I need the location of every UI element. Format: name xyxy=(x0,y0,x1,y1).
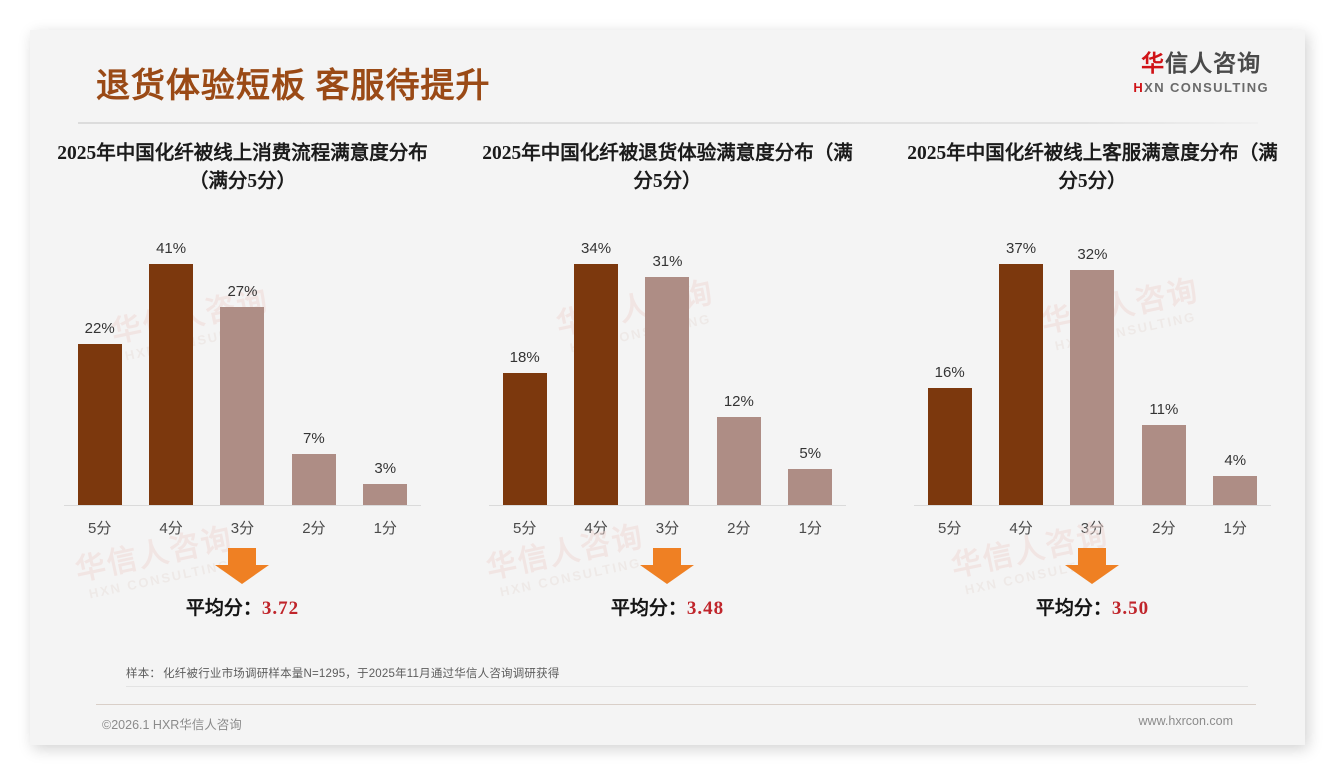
bar-group-3: 16% 37% 32% 11% xyxy=(914,240,1271,506)
chart-title-1: 2025年中国化纤被线上消费流程满意度分布（满分5分） xyxy=(42,140,443,202)
bar-rect xyxy=(645,277,689,506)
bar-rect xyxy=(220,307,264,506)
brand-logo: 华信人咨询 HXN CONSULTING xyxy=(1133,52,1269,94)
x-tick-label: 5分 xyxy=(489,517,560,538)
logo-english-accent: H xyxy=(1133,80,1144,95)
bar-rect xyxy=(1213,476,1257,506)
x-tick-label: 1分 xyxy=(350,517,421,538)
bar-value-label: 4% xyxy=(1224,452,1246,469)
chart-panel-1: 2025年中国化纤被线上消费流程满意度分布（满分5分） 华信人咨询 HXN CO… xyxy=(30,140,455,638)
slide-card: 退货体验短板 客服待提升 华信人咨询 HXN CONSULTING 2025年中… xyxy=(30,30,1305,745)
bar-rect xyxy=(363,484,407,506)
page-title: 退货体验短板 客服待提升 xyxy=(96,58,491,107)
bar-item: 7% xyxy=(278,240,349,506)
average-block-1: 华信人咨询 HXN CONSULTING 平均分：3.72 xyxy=(42,548,443,638)
x-tick-label: 4分 xyxy=(560,517,631,538)
bar-rect xyxy=(999,264,1043,506)
average-score-2: 平均分：3.48 xyxy=(467,593,868,620)
x-tick-label: 4分 xyxy=(985,517,1056,538)
bar-rect xyxy=(574,264,618,506)
bar-item: 11% xyxy=(1128,240,1199,506)
average-block-2: 华信人咨询 HXN CONSULTING 平均分：3.48 xyxy=(467,548,868,638)
bar-item: 34% xyxy=(560,240,631,506)
down-arrow-icon xyxy=(215,548,269,584)
bar-rect xyxy=(78,344,122,506)
chart-plot-2: 华信人咨询 HXN CONSULTING 18% 34% 31% xyxy=(467,240,868,540)
bar-item: 27% xyxy=(207,240,278,506)
bar-item: 31% xyxy=(632,240,703,506)
copyright-text: ©2026.1 HXR华信人咨询 xyxy=(102,714,242,733)
x-axis-line xyxy=(914,505,1271,506)
bar-item: 41% xyxy=(135,240,206,506)
logo-chinese-accent: 华 xyxy=(1141,51,1165,76)
x-tick-label: 4分 xyxy=(135,517,206,538)
chart-plot-3: 华信人咨询 HXN CONSULTING 16% 37% 32% xyxy=(892,240,1293,540)
bar-rect xyxy=(928,388,972,506)
bar-item: 18% xyxy=(489,240,560,506)
average-score-3: 平均分：3.50 xyxy=(892,593,1293,620)
logo-english-rest: XN CONSULTING xyxy=(1144,80,1269,95)
chart-panel-3: 2025年中国化纤被线上客服满意度分布（满分5分） 华信人咨询 HXN CONS… xyxy=(880,140,1305,638)
bar-value-label: 3% xyxy=(374,460,396,477)
x-tick-label: 5分 xyxy=(914,517,985,538)
down-arrow-icon xyxy=(1065,548,1119,584)
bar-value-label: 32% xyxy=(1077,246,1107,263)
x-axis-line xyxy=(64,505,421,506)
bar-rect xyxy=(1070,270,1114,506)
bar-item: 5% xyxy=(775,240,846,506)
website-link[interactable]: www.hxrcon.com xyxy=(1139,714,1233,733)
bar-value-label: 11% xyxy=(1149,401,1178,418)
average-value: 3.72 xyxy=(262,598,299,619)
x-axis-labels-2: 5分 4分 3分 2分 1分 xyxy=(489,517,846,538)
footnote-divider xyxy=(126,686,1248,687)
header-divider xyxy=(78,122,1258,124)
bar-item: 22% xyxy=(64,240,135,506)
chart-panel-2: 2025年中国化纤被退货体验满意度分布（满分5分） 华信人咨询 HXN CONS… xyxy=(455,140,880,638)
bar-value-label: 41% xyxy=(156,240,186,257)
bar-item: 4% xyxy=(1200,240,1271,506)
average-label: 平均分： xyxy=(186,598,262,619)
bar-rect xyxy=(1142,425,1186,506)
charts-row: 2025年中国化纤被线上消费流程满意度分布（满分5分） 华信人咨询 HXN CO… xyxy=(30,140,1305,638)
x-tick-label: 1分 xyxy=(1200,517,1271,538)
bar-value-label: 16% xyxy=(935,364,965,381)
source-footnote: 样本：化纤被行业市场调研样本量N=1295，于2025年11月通过华信人咨询调研… xyxy=(126,665,560,681)
bar-item: 12% xyxy=(703,240,774,506)
bar-group-2: 18% 34% 31% 12% xyxy=(489,240,846,506)
bar-value-label: 31% xyxy=(652,253,682,270)
x-tick-label: 2分 xyxy=(278,517,349,538)
bar-rect xyxy=(503,373,547,506)
bar-item: 3% xyxy=(350,240,421,506)
chart-title-3: 2025年中国化纤被线上客服满意度分布（满分5分） xyxy=(892,140,1293,202)
x-tick-label: 1分 xyxy=(775,517,846,538)
bar-value-label: 22% xyxy=(85,320,115,337)
x-tick-label: 2分 xyxy=(703,517,774,538)
average-value: 3.48 xyxy=(687,598,724,619)
bar-value-label: 18% xyxy=(510,349,540,366)
x-tick-label: 3分 xyxy=(632,517,703,538)
footnote-text: 化纤被行业市场调研样本量N=1295，于2025年11月通过华信人咨询调研获得 xyxy=(163,668,559,680)
x-axis-labels-3: 5分 4分 3分 2分 1分 xyxy=(914,517,1271,538)
bar-rect xyxy=(788,469,832,506)
chart-title-2: 2025年中国化纤被退货体验满意度分布（满分5分） xyxy=(467,140,868,202)
x-axis-labels-1: 5分 4分 3分 2分 1分 xyxy=(64,517,421,538)
x-tick-label: 5分 xyxy=(64,517,135,538)
bar-group-1: 22% 41% 27% 7% xyxy=(64,240,421,506)
bar-value-label: 37% xyxy=(1006,240,1036,257)
bar-value-label: 5% xyxy=(799,445,821,462)
chart-plot-1: 华信人咨询 HXN CONSULTING 22% 41% 27% xyxy=(42,240,443,540)
down-arrow-icon xyxy=(640,548,694,584)
average-block-3: 华信人咨询 HXN CONSULTING 平均分：3.50 xyxy=(892,548,1293,638)
footnote-label: 样本： xyxy=(126,668,161,680)
bar-rect xyxy=(149,264,193,506)
slide-footer: ©2026.1 HXR华信人咨询 www.hxrcon.com xyxy=(30,714,1305,733)
bar-item: 32% xyxy=(1057,240,1128,506)
bar-rect xyxy=(717,417,761,506)
bar-rect xyxy=(292,454,336,506)
x-axis-line xyxy=(489,505,846,506)
average-label: 平均分： xyxy=(611,598,687,619)
x-tick-label: 3分 xyxy=(207,517,278,538)
bar-item: 16% xyxy=(914,240,985,506)
slide-header: 退货体验短板 客服待提升 华信人咨询 HXN CONSULTING xyxy=(30,30,1305,122)
x-tick-label: 2分 xyxy=(1128,517,1199,538)
bar-value-label: 7% xyxy=(303,430,325,447)
bar-item: 37% xyxy=(985,240,1056,506)
bar-value-label: 34% xyxy=(581,240,611,257)
average-value: 3.50 xyxy=(1112,598,1149,619)
x-tick-label: 3分 xyxy=(1057,517,1128,538)
logo-chinese-rest: 信人咨询 xyxy=(1165,51,1261,76)
bar-value-label: 12% xyxy=(724,393,754,410)
logo-english: HXN CONSULTING xyxy=(1133,81,1269,94)
average-label: 平均分： xyxy=(1036,598,1112,619)
footer-divider xyxy=(96,704,1256,705)
average-score-1: 平均分：3.72 xyxy=(42,593,443,620)
logo-chinese: 华信人咨询 xyxy=(1133,52,1269,75)
bar-value-label: 27% xyxy=(227,283,257,300)
